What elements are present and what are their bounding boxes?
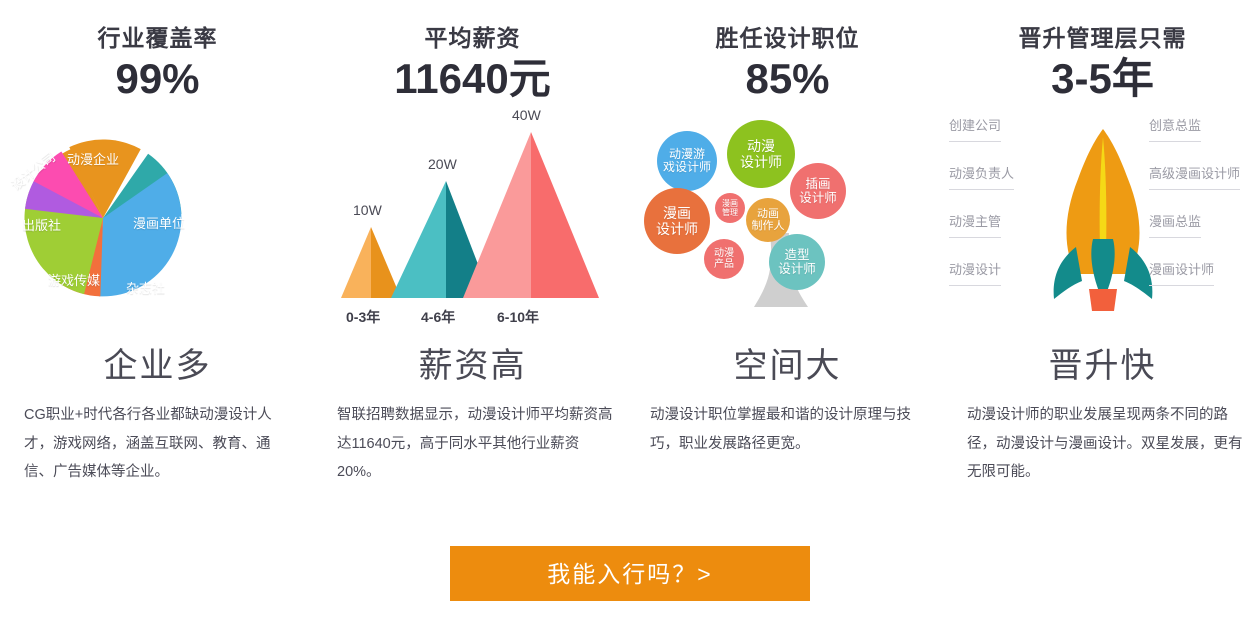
rocket-label-right-4: 漫画设计师 [1149,259,1214,286]
bubble-label: 漫画设计师 [656,205,698,237]
stat-value: 3-5年 [945,57,1260,101]
rocket-label-text: 漫画设计师 [1149,262,1214,277]
pie-label-magazine: 杂志社 [126,278,165,297]
column-body-text: CG职业+时代各行各业都缺动漫设计人才，游戏网络，涵盖互联网、教育、通信、广告媒… [24,401,297,486]
pie-chart-graphic: 动漫企业 漫画单位 杂志社 游戏传媒 出版社 设计公司 [0,115,315,330]
stat-value: 99% [0,57,315,101]
mountain-2-light [391,181,446,298]
column-body-text: 动漫设计师的职业发展呈现两条不同的路径，动漫设计与漫画设计。双星发展，更有无限可… [967,401,1246,486]
rocket-svg [1048,119,1158,319]
pie-label-comic-unit: 漫画单位 [133,213,185,232]
rocket-label-left-3: 动漫主管 [949,211,1001,238]
rocket-label-text: 动漫负责人 [949,166,1014,181]
rocket-label-text: 创建公司 [949,118,1001,133]
rocket-nozzle [1089,289,1117,311]
rocket-ladder: 创建公司 动漫负责人 动漫主管 动漫设计 [945,115,1260,330]
column-headline: 空间大 [630,338,945,387]
mountain-chart: 10W 20W 40W 0-3年 4-6年 6-10年 [315,115,630,330]
rocket-ladder-graphic: 创建公司 动漫负责人 动漫主管 动漫设计 [945,115,1260,330]
bubble-comic-designer: 漫画设计师 [644,188,710,254]
rocket-label-rule [949,285,1001,286]
rocket-label-left-2: 动漫负责人 [949,163,1014,190]
pie-label-anime-enterprise: 动漫企业 [67,149,119,168]
column-headline: 企业多 [0,338,315,387]
bubble-illustration-designer: 插画设计师 [790,163,846,219]
bubble-label: 动画制作人 [752,208,785,233]
column-salary: 平均薪资 11640元 10W 2 [315,0,630,486]
pie-label-publisher: 出版社 [22,215,61,234]
column-headline: 晋升快 [945,338,1260,387]
mountain-chart-svg [315,115,630,330]
rocket-label-rule [949,237,1001,238]
cta-button[interactable]: 我能入行吗？> [450,546,810,601]
rocket-label-text: 动漫主管 [949,214,1001,229]
stat-label: 行业覆盖率 [0,26,315,51]
rocket-label-right-2: 高级漫画设计师 [1149,163,1240,190]
bubble-label: 造型设计师 [778,248,816,277]
rocket-label-rule [1149,285,1214,286]
rocket-label-text: 高级漫画设计师 [1149,166,1240,181]
bubble-anime-designer: 动漫设计师 [727,120,795,188]
mountain-value-1: 10W [353,202,382,218]
column-career-space: 胜任设计职位 85% 动漫游戏设计师 动漫设计师 插画设计师 [630,0,945,486]
mountain-value-3: 40W [512,107,541,123]
bubble-label: 漫画管理 [722,199,738,217]
rocket-label-rule [1149,141,1201,142]
stat-value: 85% [630,57,945,101]
column-enterprises: 行业覆盖率 99% [0,0,315,486]
mountain-category-1: 0-3年 [346,307,380,327]
column-promotion: 晋升管理层只需 3-5年 创建公司 [945,0,1260,486]
stat-label: 晋升管理层只需 [945,26,1260,51]
rocket-label-right-1: 创意总监 [1149,115,1201,142]
columns-row: 行业覆盖率 99% [0,0,1260,486]
rocket-label-rule [949,189,1014,190]
rocket-label-right-3: 漫画总监 [1149,211,1201,238]
mountain-3-dark [531,132,599,298]
bubble-tree: 动漫游戏设计师 动漫设计师 插画设计师 漫画设计师 漫画管理 [630,115,945,330]
column-body-text: 智联招聘数据显示，动漫设计师平均薪资高达11640元，高于同水平其他行业薪资20… [337,401,614,486]
bubble-label: 插画设计师 [799,177,837,206]
mountain-category-3: 6-10年 [497,307,539,327]
mountain-1-light [341,227,371,298]
mountain-category-2: 4-6年 [421,307,455,327]
rocket-label-left-1: 创建公司 [949,115,1001,142]
stat-value: 11640元 [315,57,630,101]
bubble-label: 动漫设计师 [740,138,782,170]
column-headline: 薪资高 [315,338,630,387]
rocket-label-text: 创意总监 [1149,118,1201,133]
bubble-label: 动漫游戏设计师 [663,148,711,176]
bubble-anime-game-designer: 动漫游戏设计师 [657,131,717,191]
mountain-3-light [463,132,531,298]
mountain-value-2: 20W [428,156,457,172]
rocket-label-left-4: 动漫设计 [949,259,1001,286]
pie-label-game-media: 游戏传媒 [48,270,100,289]
rocket-label-rule [949,141,1001,142]
bubble-label: 动漫产品 [714,248,734,271]
rocket-label-rule [1149,237,1201,238]
infographic-page: 行业覆盖率 99% [0,0,1260,641]
cta-row: 我能入行吗？> [0,546,1260,601]
bubble-modeling-designer: 造型设计师 [769,234,825,290]
rocket-label-text: 漫画总监 [1149,214,1201,229]
column-body-text: 动漫设计职位掌握最和谐的设计原理与技巧，职业发展路径更宽。 [650,401,929,458]
bubble-tree-graphic: 动漫游戏设计师 动漫设计师 插画设计师 漫画设计师 漫画管理 [630,115,945,330]
rocket-label-text: 动漫设计 [949,262,1001,277]
stat-label: 平均薪资 [315,26,630,51]
pie-chart: 动漫企业 漫画单位 杂志社 游戏传媒 出版社 设计公司 [0,115,315,330]
rocket-label-rule [1149,189,1240,190]
stat-label: 胜任设计职位 [630,26,945,51]
mountain-chart-graphic: 10W 20W 40W 0-3年 4-6年 6-10年 [315,115,630,330]
